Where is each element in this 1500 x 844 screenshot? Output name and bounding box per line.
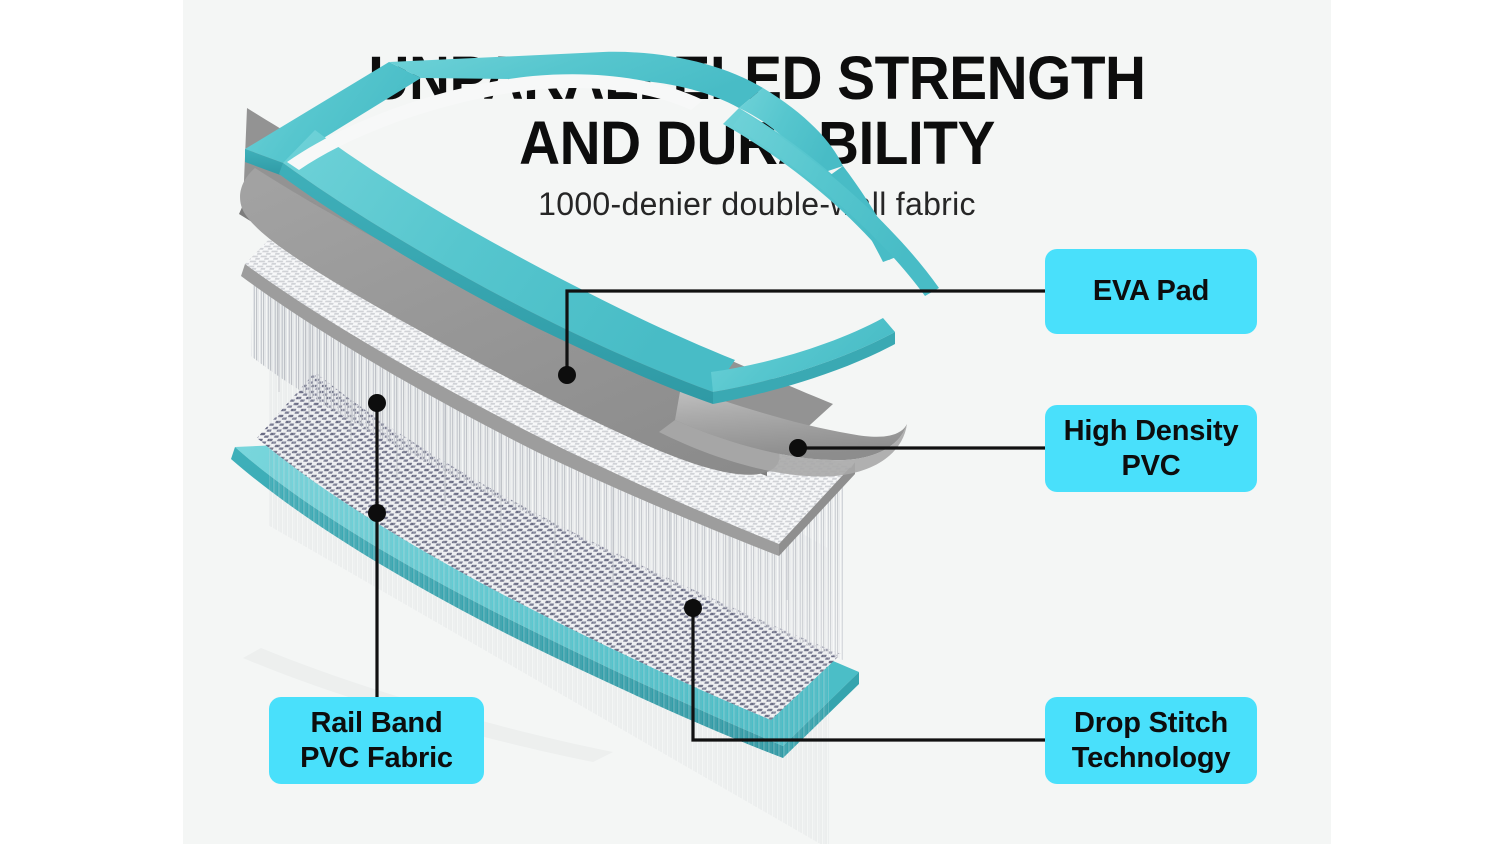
- illustration-canvas: UNPARALLELED STRENGTH AND DURABILITY 100…: [0, 0, 1500, 844]
- callout-badge-eva-pad[interactable]: EVA Pad: [1045, 249, 1257, 334]
- callout-badge-drop-stitch-technology[interactable]: Drop Stitch Technology: [1045, 697, 1257, 784]
- callout-badge-high-density-pvc[interactable]: High Density PVC: [1045, 405, 1257, 492]
- callout-badge-rail-band-pvc-fabric[interactable]: Rail Band PVC Fabric: [269, 697, 484, 784]
